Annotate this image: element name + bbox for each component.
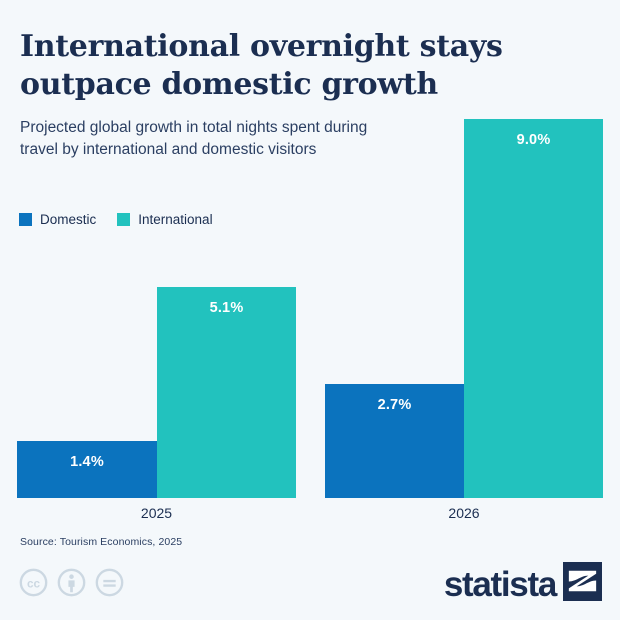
legend-swatch-domestic: [19, 213, 32, 226]
chart-legend: Domestic International: [19, 212, 213, 227]
statista-infographic: International overnight stays outpace do…: [0, 0, 620, 620]
page-title: International overnight stays outpace do…: [20, 28, 580, 104]
legend-item-international[interactable]: International: [117, 212, 212, 227]
bar-value-international-2025: 5.1%: [157, 300, 296, 316]
bar-domestic-2025[interactable]: 1.4%: [17, 441, 157, 498]
bar-value-domestic-2026: 2.7%: [325, 397, 464, 413]
bar-international-2026[interactable]: 9.0%: [464, 119, 603, 498]
bar-value-domestic-2025: 1.4%: [17, 454, 157, 470]
cc-no-derivatives-icon[interactable]: [95, 568, 124, 602]
bar-international-2025[interactable]: 5.1%: [157, 287, 296, 498]
creative-commons-icon[interactable]: cc: [19, 568, 48, 602]
legend-item-domestic[interactable]: Domestic: [19, 212, 96, 227]
category-label-2026: 2026: [325, 505, 603, 521]
cc-attribution-icon[interactable]: [57, 568, 86, 602]
subtitle: Projected global growth in total nights …: [20, 117, 390, 161]
license-icon-group: cc: [19, 568, 124, 602]
category-label-2025: 2025: [17, 505, 296, 521]
source-note: Source: Tourism Economics, 2025: [20, 536, 182, 548]
statista-logo[interactable]: statista: [444, 562, 602, 606]
svg-text:cc: cc: [27, 577, 41, 590]
legend-label-international: International: [138, 212, 212, 227]
statista-s-mark-icon: [563, 562, 602, 606]
bar-value-international-2026: 9.0%: [464, 132, 603, 148]
legend-label-domestic: Domestic: [40, 212, 96, 227]
statista-wordmark: statista: [444, 567, 556, 602]
legend-swatch-international: [117, 213, 130, 226]
bar-domestic-2026[interactable]: 2.7%: [325, 384, 464, 498]
